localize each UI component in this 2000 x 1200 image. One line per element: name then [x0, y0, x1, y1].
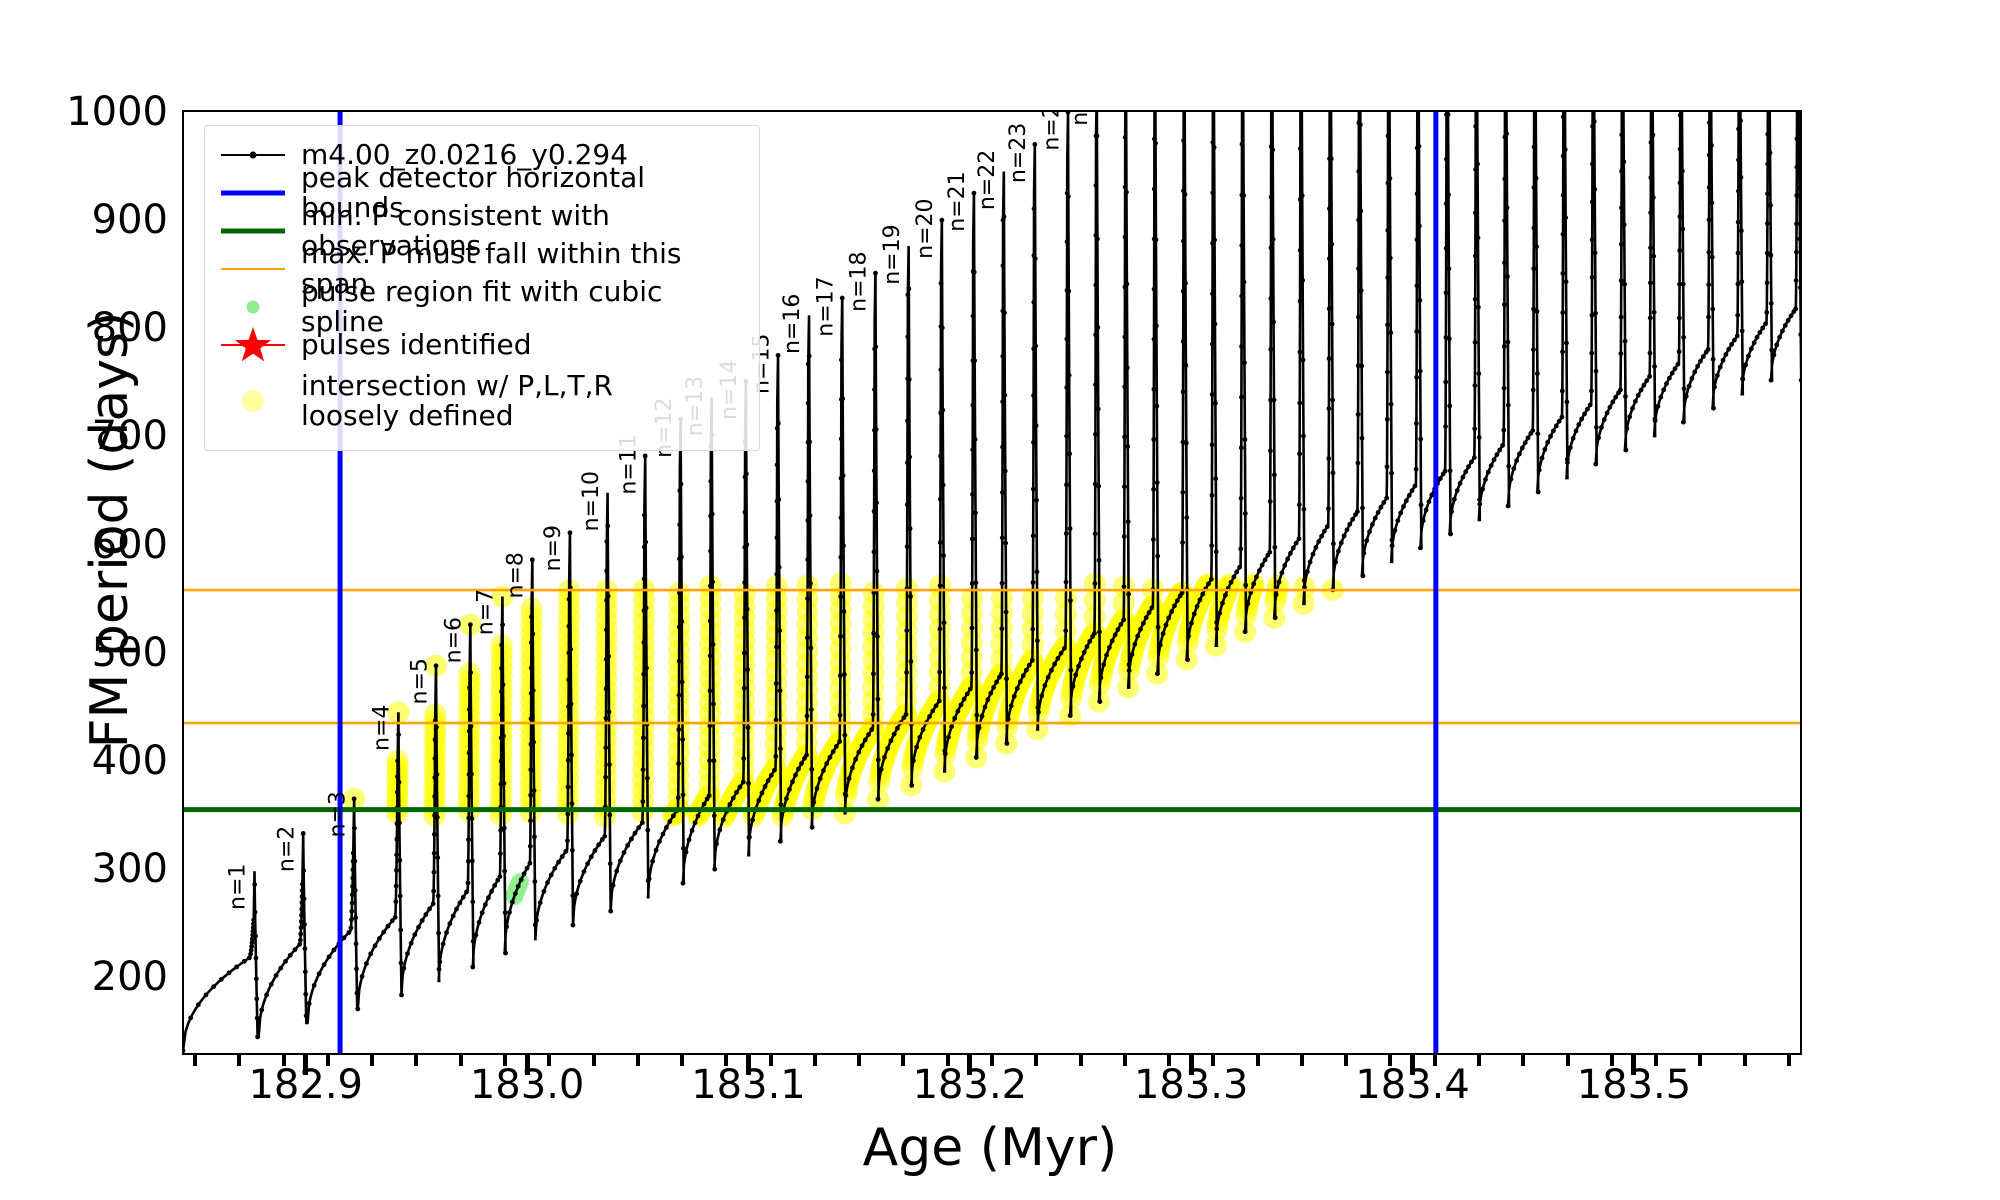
pulse-label: n=7 — [474, 589, 499, 635]
y-tick-label: 800 — [18, 305, 168, 351]
pulse-label: n=20 — [913, 198, 938, 258]
legend-line-icon — [217, 250, 289, 288]
y-tick-label: 900 — [18, 197, 168, 243]
pulse-label: n=6 — [442, 617, 467, 663]
pulse-label: n=8 — [504, 552, 529, 598]
legend-dot-icon — [217, 288, 289, 326]
legend-line-icon — [217, 174, 289, 212]
x-tick-mark — [967, 1053, 972, 1075]
pulse-label: n=9 — [541, 525, 566, 571]
legend-star-icon — [217, 326, 289, 364]
pulse-label: n=5 — [407, 658, 432, 704]
pulse-label: n=25 — [1068, 112, 1093, 126]
pulse-label: n=19 — [880, 224, 905, 284]
pulse-label: n=16 — [780, 294, 805, 354]
legend-item-label: intersection w/ P,L,T,R loosely defined — [301, 371, 613, 431]
y-tick-label: 600 — [18, 522, 168, 568]
legend-line-icon — [217, 212, 289, 250]
legend-item-label: pulses identified — [301, 330, 532, 360]
legend-item[interactable]: intersection w/ P,L,T,R loosely defined — [217, 364, 747, 438]
pulse-label: n=23 — [1006, 123, 1031, 183]
pulse-label: n=18 — [847, 251, 872, 311]
pulse-label: n=4 — [370, 705, 395, 751]
legend-dot-icon — [217, 382, 289, 420]
x-tick-mark — [746, 1053, 751, 1075]
chart-legend[interactable]: m4.00_z0.0216_y0.294peak detector horizo… — [204, 125, 760, 451]
x-tick-mark — [303, 1053, 308, 1075]
x-tick-mark — [525, 1053, 530, 1075]
pulse-label: n=1 — [226, 864, 251, 910]
pulse-label: n=22 — [975, 150, 1000, 210]
y-tick-label: 400 — [18, 738, 168, 784]
y-tick-label: 200 — [18, 954, 168, 1000]
y-tick-label: 300 — [18, 846, 168, 892]
y-tick-label: 500 — [18, 630, 168, 676]
pulse-label: n=17 — [813, 276, 838, 336]
pulse-label: n=2 — [274, 826, 299, 872]
legend-line-marker-icon — [217, 136, 289, 174]
x-tick-mark — [1410, 1053, 1415, 1075]
legend-item[interactable]: pulse region fit with cubic spline — [217, 288, 747, 326]
chart-root: FM period (days) 20030040050060070080090… — [0, 0, 2000, 1200]
y-tick-label: 1000 — [18, 89, 168, 135]
y-tick-label: 700 — [18, 413, 168, 459]
pulse-label: n=21 — [945, 171, 970, 231]
y-axis-ticks: 2003004005006007008009001000 — [0, 0, 168, 1200]
x-tick-mark — [1189, 1053, 1194, 1075]
x-tick-mark — [1631, 1053, 1636, 1075]
pulse-label: n=3 — [325, 791, 350, 837]
x-axis-label: Age (Myr) — [180, 1118, 1800, 1178]
pulse-label: n=24 — [1039, 112, 1064, 151]
pulse-label: n=10 — [579, 471, 604, 531]
